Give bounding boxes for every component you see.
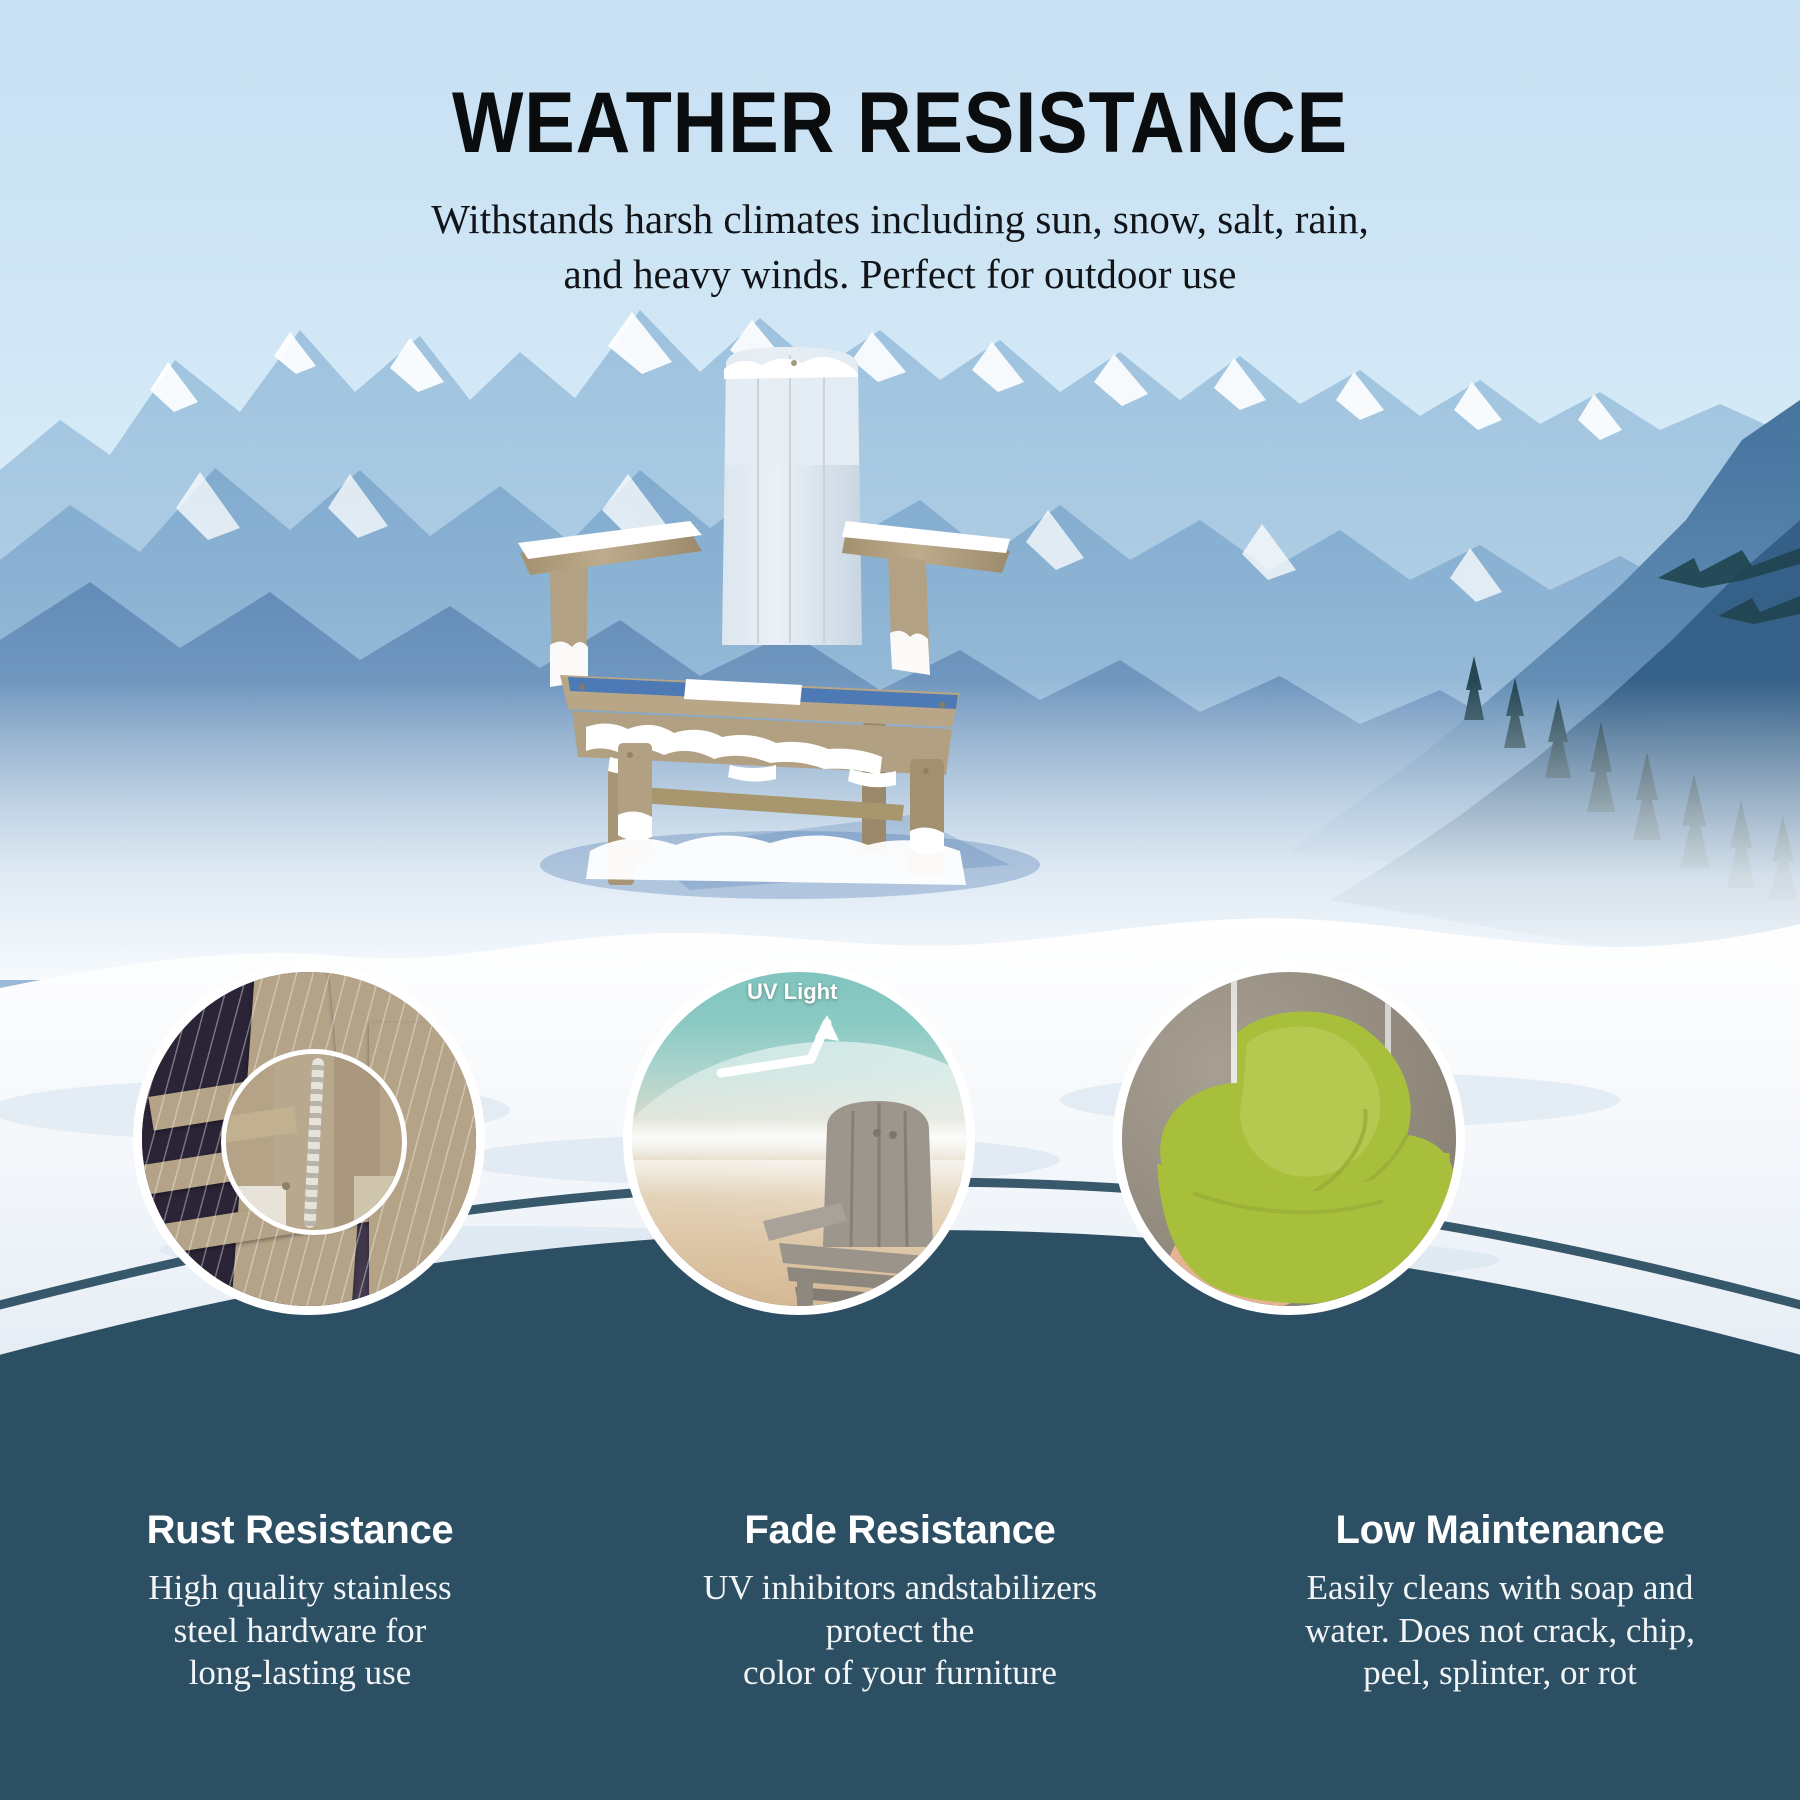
feature-body: High quality stainless steel hardware fo…	[22, 1567, 578, 1695]
feature-body: UV inhibitors andstabilizers protect the…	[622, 1567, 1178, 1695]
hardware-inset-photo	[221, 1049, 407, 1235]
feature-fade-resistance: Fade Resistance UV inhibitors andstabili…	[600, 1508, 1200, 1695]
feature-body-line-2: water. Does not crack, chip,	[1305, 1611, 1695, 1650]
feature-body-line-1: High quality stainless	[148, 1568, 451, 1607]
feature-body-line-1: Easily cleans with soap and	[1307, 1568, 1694, 1607]
uv-light-label: UV Light	[747, 979, 837, 1005]
cloth-tail-icon	[1133, 1153, 1463, 1315]
feature-body-line-3: peel, splinter, or rot	[1363, 1653, 1637, 1692]
feature-body-line-3: long-lasting use	[189, 1653, 412, 1692]
feature-rust-resistance: Rust Resistance High quality stainless s…	[0, 1508, 600, 1695]
feature-body: Easily cleans with soap and water. Does …	[1222, 1567, 1778, 1695]
feature-body-line-1: UV inhibitors andstabilizers	[703, 1568, 1097, 1607]
feature-body-line-2: steel hardware for	[174, 1611, 427, 1650]
subtitle-line-2: and heavy winds. Perfect for outdoor use	[564, 251, 1237, 297]
subtitle-line-1: Withstands harsh climates including sun,…	[431, 196, 1368, 242]
low-maintenance-photo	[1113, 963, 1465, 1315]
beach-chair-icon	[757, 1071, 967, 1315]
rust-resistance-photo	[133, 963, 485, 1315]
feature-body-line-3: color of your furniture	[743, 1653, 1057, 1692]
page-subtitle: Withstands harsh climates including sun,…	[340, 192, 1460, 302]
feature-title: Fade Resistance	[622, 1508, 1178, 1553]
feature-captions: Rust Resistance High quality stainless s…	[0, 1508, 1800, 1695]
feature-title: Rust Resistance	[22, 1508, 578, 1553]
feature-low-maintenance: Low Maintenance Easily cleans with soap …	[1200, 1508, 1800, 1695]
feature-body-line-2: protect the	[826, 1611, 975, 1650]
infographic-canvas: UV Light	[0, 0, 1800, 1800]
header: WEATHER RESISTANCE Withstands harsh clim…	[0, 0, 1800, 302]
fade-resistance-photo: UV Light	[623, 963, 975, 1315]
feature-title: Low Maintenance	[1222, 1508, 1778, 1553]
page-title: WEATHER RESISTANCE	[108, 0, 1692, 166]
